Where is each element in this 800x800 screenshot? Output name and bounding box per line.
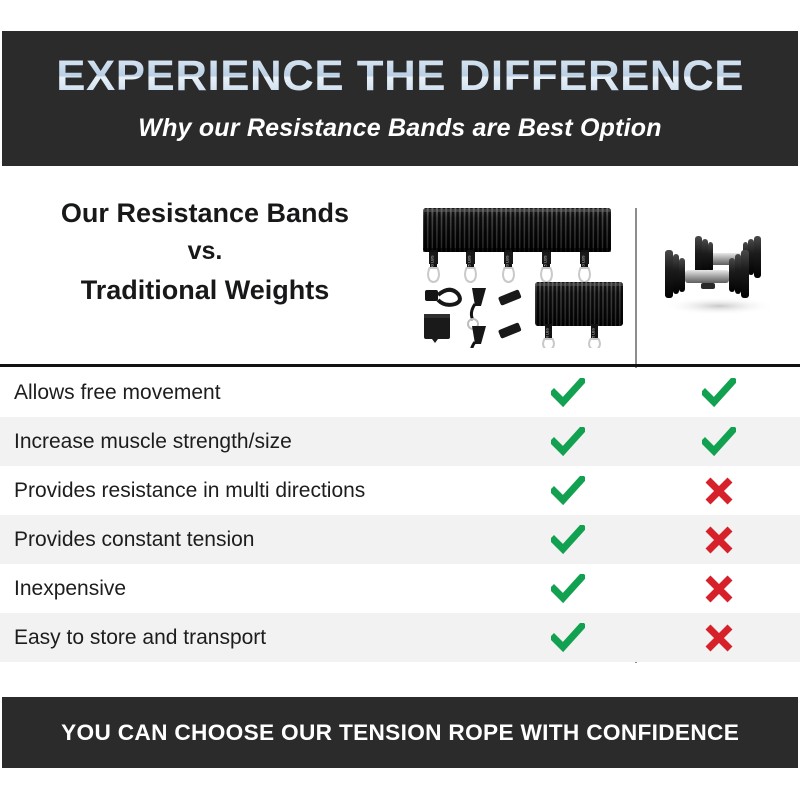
title-vs: vs.	[0, 235, 410, 268]
table-row: Allows free movement	[0, 368, 800, 417]
feature-label: Inexpensive	[0, 577, 500, 601]
check-icon	[702, 378, 736, 408]
band-coil-top	[423, 208, 611, 252]
cross-icon	[704, 623, 734, 653]
weights-cell	[637, 378, 800, 408]
feature-label: Provides constant tension	[0, 528, 500, 552]
band-clips-top: 30 LBS 25 LBS 20 LBS 15 LBS	[428, 250, 590, 282]
check-icon	[551, 574, 585, 604]
bands-cell	[500, 378, 635, 408]
bands-cell	[500, 623, 635, 653]
svg-text:15 LBS: 15 LBS	[543, 255, 548, 268]
cross-icon	[704, 476, 734, 506]
ankle-strap-icon-1	[498, 289, 522, 306]
svg-text:25 LBS: 25 LBS	[467, 255, 472, 268]
table-row: Provides resistance in multi directions	[0, 466, 800, 515]
top-banner: EXPERIENCE THE DIFFERENCE Why our Resist…	[2, 31, 798, 166]
carry-pouch-icon	[424, 314, 450, 343]
table-row: Inexpensive	[0, 564, 800, 613]
bands-cell	[500, 525, 635, 555]
title-our: Our	[61, 198, 109, 228]
svg-text:30 LBS: 30 LBS	[430, 255, 435, 268]
comparison-title: Our Resistance Bands vs. Traditional Wei…	[0, 196, 410, 308]
check-icon	[551, 476, 585, 506]
weights-cell	[637, 427, 800, 457]
check-icon	[702, 427, 736, 457]
band-coil-bottom: 30 LBS 25 LBS	[535, 282, 623, 348]
bands-cell	[500, 574, 635, 604]
header-rule	[0, 364, 800, 367]
table-row: Easy to store and transport	[0, 613, 800, 662]
feature-label: Easy to store and transport	[0, 626, 500, 650]
weights-cell	[637, 574, 800, 604]
weights-cell	[637, 623, 800, 653]
cross-icon	[704, 525, 734, 555]
check-icon	[551, 525, 585, 555]
door-anchor-icon	[425, 290, 460, 305]
bands-cell	[500, 476, 635, 506]
svg-text:20 LBS: 20 LBS	[505, 255, 510, 268]
ankle-strap-icon-2	[498, 322, 522, 339]
handle-icon-1	[468, 288, 486, 329]
footer-text: YOU CAN CHOOSE OUR TENSION ROPE WITH CON…	[61, 720, 739, 746]
feature-label: Provides resistance in multi directions	[0, 479, 500, 503]
table-row: Provides constant tension	[0, 515, 800, 564]
comparison-table: Allows free movement Increase muscle str…	[0, 368, 800, 662]
comparison-header: Our Resistance Bands vs. Traditional Wei…	[0, 190, 800, 365]
weights-cell	[637, 525, 800, 555]
feature-label: Increase muscle strength/size	[0, 430, 500, 454]
weights-cell	[637, 476, 800, 506]
title-traditional-weights: Traditional Weights	[0, 273, 410, 308]
check-icon	[551, 378, 585, 408]
check-icon	[551, 427, 585, 457]
footer-banner: YOU CAN CHOOSE OUR TENSION ROPE WITH CON…	[2, 697, 798, 768]
table-row: Increase muscle strength/size	[0, 417, 800, 466]
page-title: EXPERIENCE THE DIFFERENCE	[56, 55, 744, 98]
page-subtitle: Why our Resistance Bands are Best Option	[138, 114, 661, 143]
check-icon	[551, 623, 585, 653]
handle-icon-2	[471, 326, 486, 348]
cross-icon	[704, 574, 734, 604]
adjustable-dumbbells-image	[645, 208, 793, 328]
feature-label: Allows free movement	[0, 381, 500, 405]
title-resistance-bands: Resistance Bands	[116, 198, 349, 228]
bands-cell	[500, 427, 635, 457]
resistance-bands-image: 30 LBS 25 LBS 20 LBS 15 LBS	[415, 198, 627, 348]
svg-text:10 LBS: 10 LBS	[581, 255, 586, 268]
